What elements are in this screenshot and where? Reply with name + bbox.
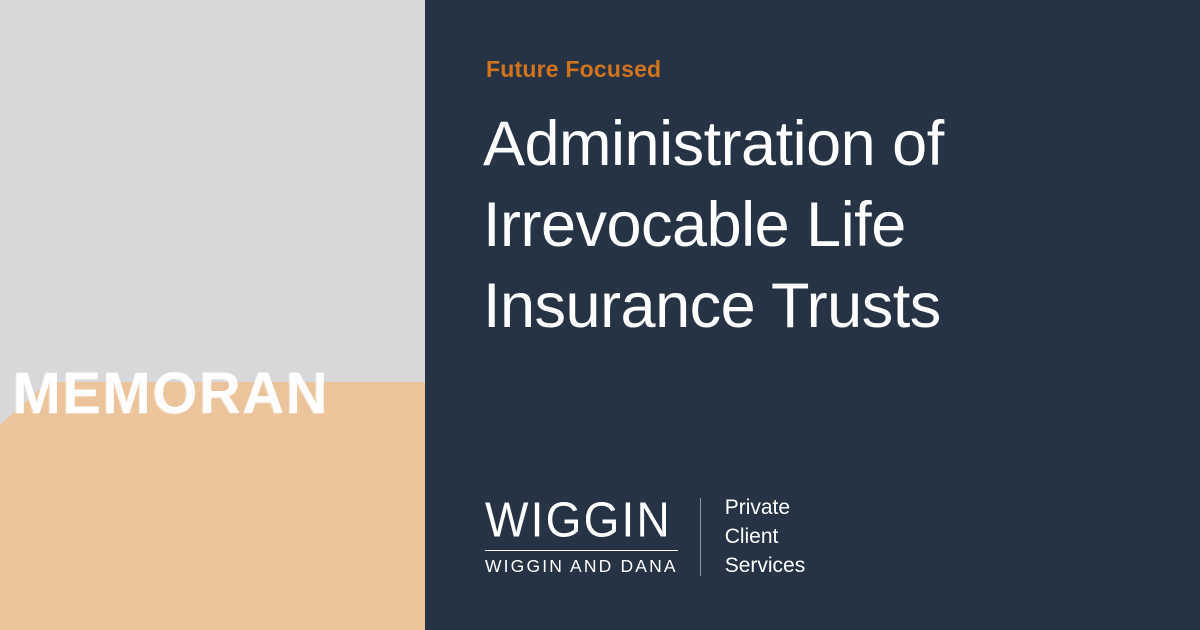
thumbnail-document-title: T MEMORAN bbox=[0, 358, 425, 430]
page-title: Administration of Irrevocable Life Insur… bbox=[483, 104, 1173, 347]
page-title-line-2: Irrevocable Life bbox=[483, 185, 1173, 266]
brand-lockup: WIGGIN WIGGIN AND DANA Private Client Se… bbox=[485, 493, 805, 580]
content-panel: Future Focused Administration of Irrevoc… bbox=[425, 0, 1200, 630]
brand-mark: WIGGIN WIGGIN AND DANA bbox=[485, 497, 700, 577]
brand-practice-line-2: Client bbox=[725, 522, 806, 551]
brand-sub-wordmark: WIGGIN AND DANA bbox=[485, 556, 678, 576]
document-thumbnail-panel: T MEMORAN bbox=[0, 0, 425, 630]
brand-practice-line-1: Private bbox=[725, 493, 806, 522]
page-title-line-1: Administration of bbox=[483, 104, 1173, 185]
brand-practice-group: Private Client Services bbox=[725, 493, 806, 580]
social-share-card: T MEMORAN Future Focused Administration … bbox=[0, 0, 1200, 630]
brand-wordmark: WIGGIN bbox=[485, 494, 678, 545]
brand-rule-divider bbox=[485, 550, 678, 552]
brand-vertical-divider bbox=[700, 498, 701, 576]
brand-practice-line-3: Services bbox=[725, 551, 806, 580]
eyebrow-label: Future Focused bbox=[486, 56, 661, 83]
thumbnail-peach-block bbox=[0, 425, 425, 630]
page-title-line-3: Insurance Trusts bbox=[483, 266, 1173, 347]
